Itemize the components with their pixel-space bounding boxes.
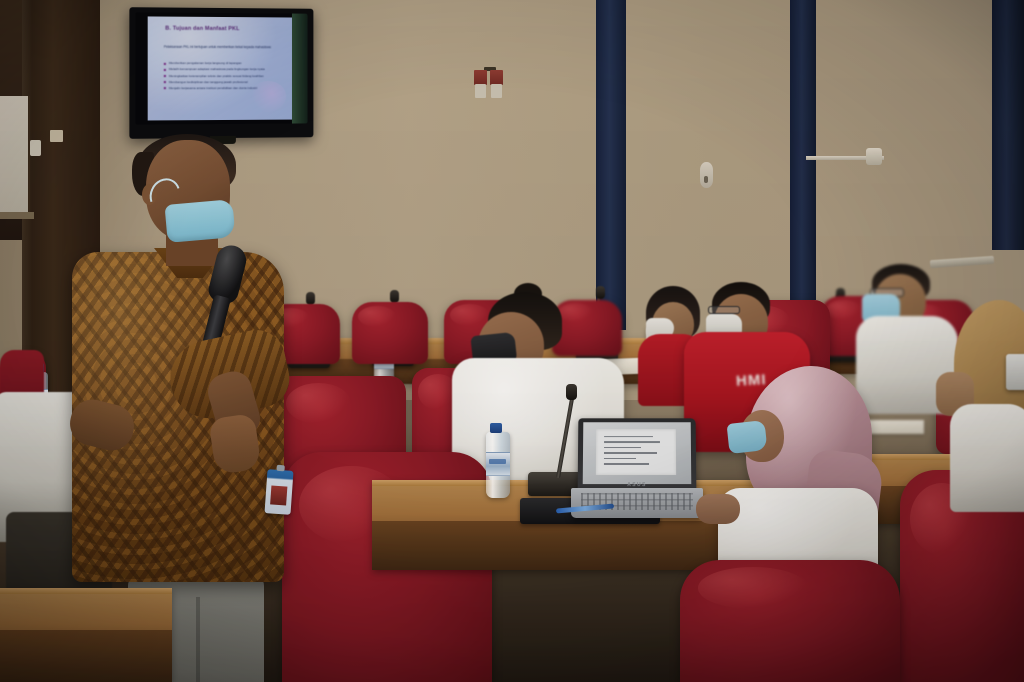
text-line [604,458,636,460]
display-side-shadow [292,14,308,124]
wall-speaker-icon [700,162,713,188]
text-line [604,447,641,449]
slide-title: B. Tujuan dan Manfaat PKL [165,27,280,34]
desk-front [0,630,172,682]
wall-light-icon [30,140,41,156]
water-bottle [486,432,510,498]
slide-bullet: Melatih kemampuan adaptasi mahasiswa pad… [164,67,282,72]
bottle-cap [490,423,502,433]
text-line [604,441,660,443]
navy-pilaster [790,0,816,300]
desk-edge [0,588,172,594]
desk-microphone-head [566,384,577,400]
navy-pilaster [596,0,626,330]
laptop-screen [583,422,692,484]
alarm-lamp-icon [474,70,487,85]
alarm-lamp-icon [490,70,503,85]
text-line [604,463,649,465]
badge-clip [276,465,284,472]
photo-scene: B. Tujuan dan Manfaat PKL Pelaksanaan PK… [0,0,1024,682]
laptop[interactable]: ASUS [578,418,696,518]
alarm-base [475,84,486,98]
text-line [604,436,653,438]
mobile-phone [1006,354,1024,390]
slide-intro: Pelaksanaan PKL ini bertujuan untuk memb… [164,45,279,50]
alarm-base [491,84,502,98]
hand [696,494,740,524]
torso-white-shirt [950,404,1024,512]
slide-bullet: Membangun kedisiplinan dan tanggung jawa… [164,80,282,85]
display-bezel: B. Tujuan dan Manfaat PKL Pelaksanaan PK… [135,12,307,124]
slide-bullet: Memberikan pengalaman kerja langsung di … [164,61,282,66]
whiteboard [0,96,30,212]
display-screen: B. Tujuan dan Manfaat PKL Pelaksanaan PK… [148,16,292,120]
desk-front-left [0,588,172,682]
slide-bullet: Meningkatkan keterampilan teknis dan pra… [164,74,282,79]
id-badge [264,469,293,515]
participant-woman-khaki-hijab [950,300,1024,510]
fire-alarm-unit [474,70,508,100]
chair-front-right [680,560,900,682]
conduit-junction-box [866,148,882,165]
slide-bullet-list: Memberikan pengalaman kerja langsung di … [164,61,282,92]
badge-photo [270,485,287,505]
whiteboard-tray [0,212,34,219]
chair [352,302,428,364]
laptop-lid: ASUS [578,418,697,490]
wall-display: B. Tujuan dan Manfaat PKL Pelaksanaan PK… [129,7,313,139]
laptop-keyboard-base [571,488,703,518]
face-mask-under-chin [164,199,235,243]
face-mask [727,420,768,454]
eyeglasses-icon [708,306,740,314]
navy-pilaster [992,0,1024,250]
document-window [596,430,676,476]
text-line [604,452,657,454]
bottle-label [486,452,510,476]
slide-bullet: Menjalin kerjasama antara institusi pend… [164,86,282,91]
